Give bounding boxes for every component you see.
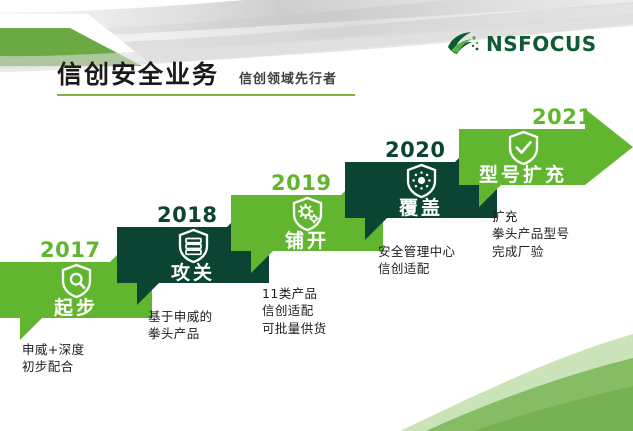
shield-server-icon [177, 228, 210, 264]
step-label-2020: 覆盖 [399, 199, 443, 218]
title-underline [57, 94, 355, 96]
page-title: 信创安全业务 [57, 61, 219, 89]
bottom-ribbon-decoration [400, 300, 633, 431]
step-label-2018: 攻关 [171, 264, 215, 283]
step-label-2017: 起步 [54, 299, 98, 318]
slide-canvas: NSFOCUS 信创安全业务 信创领域先行者 2017 起步 申威+深度 初步配… [0, 0, 633, 431]
step-description-2020: 安全管理中心 信创适配 [378, 243, 455, 278]
nsfocus-eagle-icon [447, 31, 481, 57]
page-subtitle: 信创领域先行者 [239, 68, 337, 87]
step-description-2017: 申威+深度 初步配合 [22, 341, 84, 376]
shield-radial-icon [405, 163, 438, 199]
step-label-2021: 型号扩充 [479, 166, 567, 185]
nsfocus-logo: NSFOCUS [447, 30, 599, 58]
step-description-2021: 扩充 拳头产品型号 完成厂验 [492, 208, 569, 260]
shield-check-icon [507, 130, 540, 166]
step-description-2018: 基于申威的 拳头产品 [148, 308, 213, 343]
shield-gear-icon [291, 196, 324, 232]
step-description-2019: 11类产品 信创适配 可批量供货 [262, 285, 327, 337]
nsfocus-wordmark: NSFOCUS [486, 34, 597, 54]
shield-search-icon [60, 263, 93, 299]
title-block: 信创安全业务 信创领域先行者 [57, 61, 397, 96]
step-label-2019: 铺开 [285, 232, 329, 251]
